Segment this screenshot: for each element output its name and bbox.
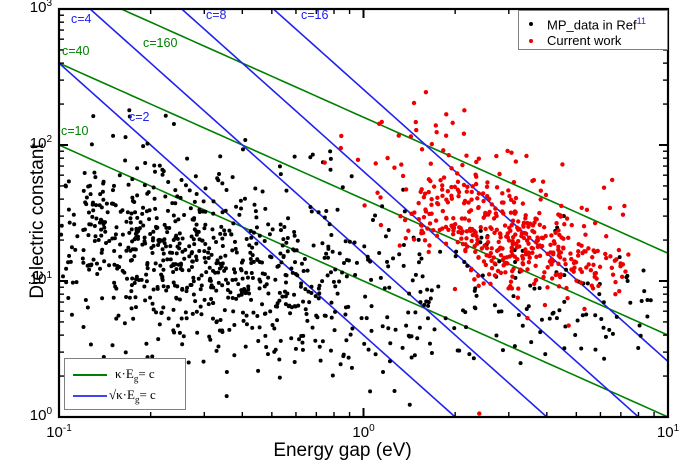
guide-line-label-c10: c=10	[61, 124, 88, 138]
guide-line-label-c8: c=8	[206, 8, 227, 22]
legend-kappa-eg-pre: κ·E	[115, 366, 134, 381]
legend-entry-sqrt-kappa-eg: √κ·Eg= c	[73, 387, 156, 405]
legend-entry-current-work: Current work	[529, 33, 621, 48]
legend-text-mp: MP_data in Ref	[547, 17, 637, 32]
x-tick-label-2: 101	[657, 423, 679, 441]
red-dot-marker-icon	[529, 39, 533, 43]
legend-entry-kappa-eg: κ·Eg= c	[73, 366, 155, 384]
legend-sqrt-pre: √κ·E	[109, 387, 135, 402]
guide-line-label-c4: c=4	[71, 12, 92, 26]
data-legend: MP_data in Ref11 Current work	[518, 10, 668, 50]
guide-line-legend: κ·Eg= c √κ·Eg= c	[64, 358, 186, 410]
y-tick-label-2: 101	[30, 270, 52, 288]
blue-line-marker-icon	[73, 395, 107, 397]
scatter-plot-figure: Energy gap (eV) Dielectric constant 10-1…	[0, 0, 685, 471]
legend-label-kappa-eg: κ·Eg= c	[115, 366, 155, 384]
legend-kappa-eg-post: = c	[138, 366, 154, 381]
legend-entry-mp-data: MP_data in Ref11	[529, 16, 646, 32]
legend-label-mp-data: MP_data in Ref11	[547, 16, 646, 32]
guide-line-label-c40: c=40	[62, 44, 89, 58]
y-tick-label-3: 100	[30, 406, 52, 424]
legend-label-current-work: Current work	[547, 33, 621, 48]
guide-line-label-c160: c=160	[143, 36, 177, 50]
y-tick-label-0: 103	[30, 0, 52, 16]
legend-sqrt-post: = c	[139, 387, 155, 402]
x-axis-title: Energy gap (eV)	[0, 440, 685, 462]
guide-line-label-c2: c=2	[129, 110, 150, 124]
y-tick-label-1: 102	[30, 134, 52, 152]
guide-line-label-c16: c=16	[301, 8, 328, 22]
x-tick-label-0: 10-1	[46, 423, 72, 441]
legend-ref-superscript: 11	[637, 16, 646, 26]
x-tick-label-1: 100	[352, 423, 374, 441]
y-axis-title: Dielectric constant	[27, 91, 49, 351]
legend-label-sqrt-kappa-eg: √κ·Eg= c	[109, 387, 156, 405]
black-dot-marker-icon	[529, 22, 533, 26]
green-line-marker-icon	[73, 374, 107, 376]
